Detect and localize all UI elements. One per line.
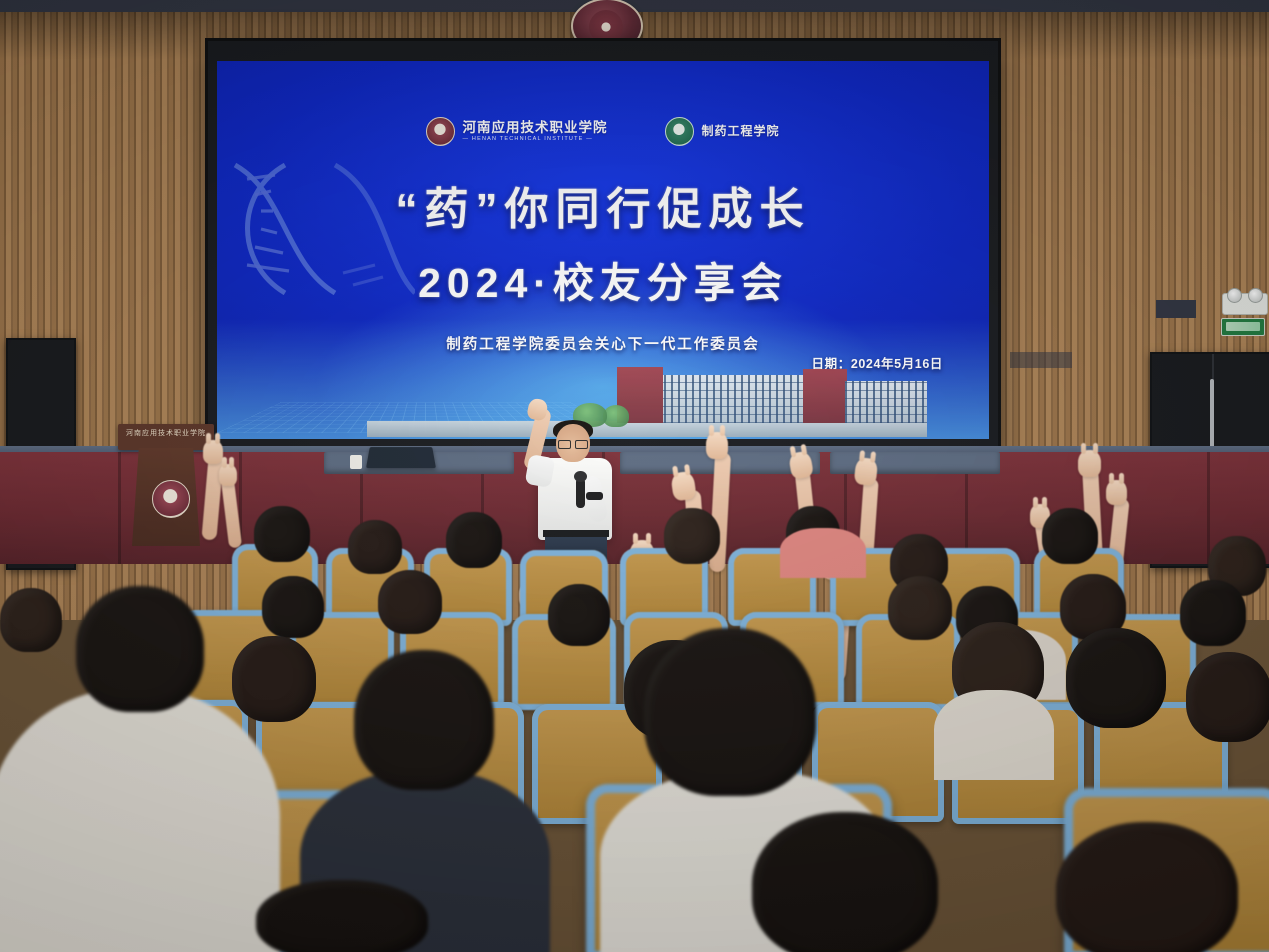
screen-title-line-2: 2024·校友分享会 [217, 249, 989, 309]
audience-head [664, 508, 720, 564]
lectern-school-name: 河南应用技术职业学院 [118, 428, 214, 438]
foreground-person-shoulders [0, 688, 280, 952]
screen-content: 河南应用技术职业学院 — HENAN TECHNICAL INSTITUTE —… [217, 61, 989, 439]
audience-head [1042, 508, 1098, 564]
screen-logo-row: 河南应用技术职业学院 — HENAN TECHNICAL INSTITUTE —… [217, 117, 989, 146]
foreground-head [76, 586, 204, 712]
audience-head [262, 576, 324, 638]
screen-title-block: “药”你同行促成长 2024·校友分享会 制药工程学院委员会关心下一代工作委员会 [217, 173, 989, 354]
laptop [366, 447, 436, 468]
wall-vent [1010, 352, 1072, 368]
raised-hand [1106, 480, 1127, 505]
audience-head [254, 506, 310, 562]
raised-hand [706, 432, 728, 459]
campus-building-tower [803, 369, 847, 423]
foreground-head [256, 880, 428, 952]
audience-head [446, 512, 502, 568]
campus-building-left [657, 375, 807, 423]
paper-cup [350, 455, 362, 469]
emergency-light [1222, 293, 1268, 315]
lectern-school-crest [152, 480, 190, 518]
raised-hand [1078, 450, 1101, 477]
foreground-head [354, 650, 494, 790]
audience-head [888, 576, 952, 640]
audience-head [1180, 580, 1246, 646]
foreground-head [1056, 822, 1238, 952]
logo-left-english: — HENAN TECHNICAL INSTITUTE — [462, 137, 607, 143]
audience-head [0, 588, 62, 652]
lectern: 河南应用技术职业学院 [118, 424, 214, 546]
campus-building-photo [367, 359, 927, 437]
raised-hand [219, 464, 237, 486]
audience-shoulders [934, 690, 1054, 780]
logo-henan-technical-institute: 河南应用技术职业学院 — HENAN TECHNICAL INSTITUTE — [426, 117, 607, 146]
auditorium-photo: 河南应用技术职业学院 — HENAN TECHNICAL INSTITUTE —… [0, 0, 1269, 952]
audience-head [1186, 652, 1269, 742]
audience-head [378, 570, 442, 634]
screen-subtitle: 制药工程学院委员会关心下一代工作委员会 [217, 333, 989, 354]
audience-shoulders [780, 528, 866, 578]
logo-pharmaceutical-engineering-college: 制药工程学院 [665, 117, 779, 146]
audience-head [548, 584, 610, 646]
audience-head [1066, 628, 1166, 728]
foreground-head [752, 812, 938, 952]
led-presentation-screen: 河南应用技术职业学院 — HENAN TECHNICAL INSTITUTE —… [205, 38, 1001, 456]
exit-sign [1221, 318, 1265, 336]
screen-title-line-1: “药”你同行促成长 [217, 173, 989, 237]
handheld-microphone [576, 478, 585, 508]
pharmaceutical-engineering-college-seal-icon [665, 117, 694, 146]
henan-technical-institute-seal-icon [426, 117, 455, 146]
audience-head [348, 520, 402, 574]
audience-head [232, 636, 316, 722]
speaker-belt [543, 530, 609, 537]
campus-ground [367, 421, 927, 437]
wall-vent [1156, 300, 1196, 318]
logo-left-chinese: 河南应用技术职业学院 [462, 121, 607, 135]
wristwatch [586, 492, 603, 500]
foreground-head [644, 628, 816, 796]
campus-building-right [845, 381, 927, 423]
raised-hand [854, 457, 879, 486]
speaker-glasses-icon [558, 440, 588, 447]
raised-hand [203, 440, 223, 464]
logo-right-chinese: 制药工程学院 [701, 125, 779, 138]
